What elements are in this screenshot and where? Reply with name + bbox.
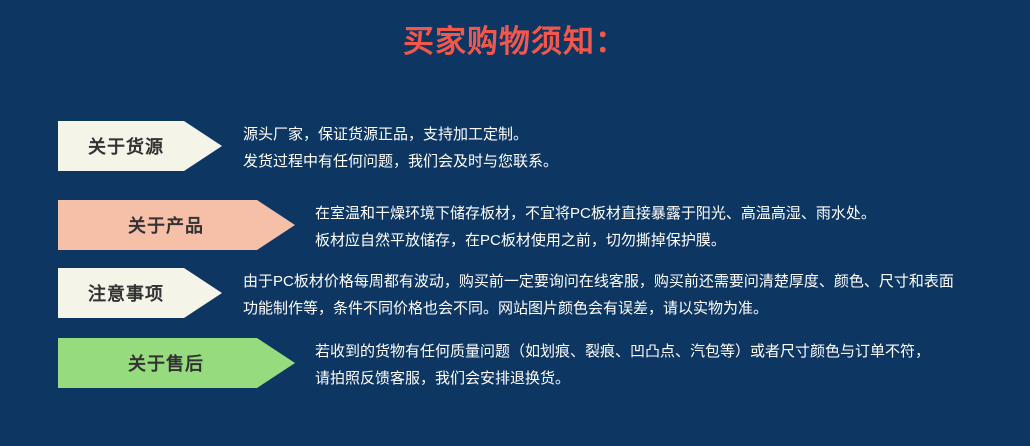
banner-label-attention: 注意事项 <box>88 280 164 306</box>
body-line: 发货过程中有任何问题，我们会及时与您联系。 <box>243 148 558 175</box>
banner-attention: 注意事项 <box>58 268 222 318</box>
body-text-attention: 由于PC板材价格每周都有波动，购买前一定要询问在线客服，购买前还需要问清楚厚度、… <box>243 268 954 322</box>
body-line: 源头厂家，保证货源正品，支持加工定制。 <box>243 121 558 148</box>
notice-section-attention: 注意事项 由于PC板材价格每周都有波动，购买前一定要询问在线客服，购买前还需要问… <box>0 268 1030 330</box>
body-line: 由于PC板材价格每周都有波动，购买前一定要询问在线客服，购买前还需要问清楚厚度、… <box>243 268 954 295</box>
body-line: 板材应自然平放储存，在PC板材使用之前，切勿撕掉保护膜。 <box>315 227 876 254</box>
body-text-product: 在室温和干燥环境下储存板材，不宜将PC板材直接暴露于阳光、高温高湿、雨水处。 板… <box>315 200 876 254</box>
page-title: 买家购物须知： <box>0 22 1030 62</box>
banner-aftersales: 关于售后 <box>58 338 295 388</box>
body-line: 在室温和干燥环境下储存板材，不宜将PC板材直接暴露于阳光、高温高湿、雨水处。 <box>315 200 876 227</box>
banner-product: 关于产品 <box>58 200 295 250</box>
banner-source: 关于货源 <box>58 121 222 171</box>
banner-label-aftersales: 关于售后 <box>128 350 204 376</box>
notice-section-source: 关于货源 源头厂家，保证货源正品，支持加工定制。 发货过程中有任何问题，我们会及… <box>0 121 1030 183</box>
notice-section-product: 关于产品 在室温和干燥环境下储存板材，不宜将PC板材直接暴露于阳光、高温高湿、雨… <box>0 200 1030 262</box>
body-line: 功能制作等，条件不同价格也会不同。网站图片颜色会有误差，请以实物为准。 <box>243 295 954 322</box>
notice-section-aftersales: 关于售后 若收到的货物有任何质量问题（如划痕、裂痕、凹凸点、汽包等）或者尺寸颜色… <box>0 338 1030 400</box>
body-text-source: 源头厂家，保证货源正品，支持加工定制。 发货过程中有任何问题，我们会及时与您联系… <box>243 121 558 175</box>
shopping-notice-page: { "page": { "title": "买家购物须知：", "backgro… <box>0 0 1030 446</box>
body-text-aftersales: 若收到的货物有任何质量问题（如划痕、裂痕、凹凸点、汽包等）或者尺寸颜色与订单不符… <box>315 338 930 392</box>
body-line: 若收到的货物有任何质量问题（如划痕、裂痕、凹凸点、汽包等）或者尺寸颜色与订单不符… <box>315 338 930 365</box>
body-line: 请拍照反馈客服，我们会安排退换货。 <box>315 365 930 392</box>
banner-label-product: 关于产品 <box>128 212 204 238</box>
banner-label-source: 关于货源 <box>88 133 164 159</box>
